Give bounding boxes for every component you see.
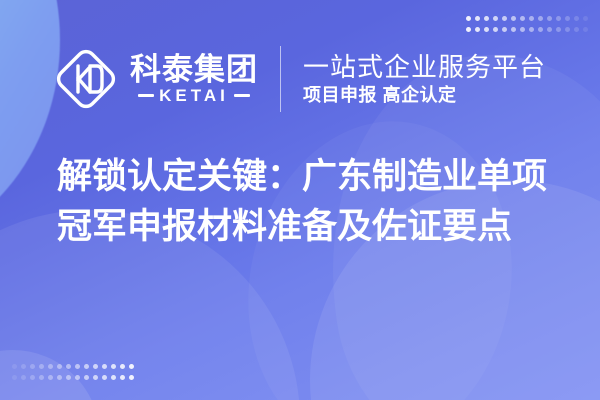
dot: [466, 27, 471, 32]
dot: [502, 16, 507, 21]
dot: [466, 16, 471, 21]
dot: [565, 16, 570, 21]
dot: [556, 27, 561, 32]
dot-grid-row: [12, 364, 134, 369]
dot-grid-row: [466, 27, 588, 32]
dot: [39, 375, 44, 380]
dot: [57, 375, 62, 380]
dot: [529, 27, 534, 32]
dot: [484, 16, 489, 21]
dot: [538, 27, 543, 32]
banner-headline: 解锁认定关键：广东制造业单项冠军申报材料准备及佐证要点: [57, 152, 560, 253]
dot: [520, 16, 525, 21]
dot: [556, 16, 561, 21]
vertical-divider: [280, 46, 281, 112]
dot: [475, 27, 480, 32]
dot: [120, 364, 125, 369]
dot: [111, 375, 116, 380]
ketai-diamond-monogram-icon: [54, 47, 118, 111]
brand-wordmark: 科泰集团 KETAI: [130, 54, 258, 105]
dot: [547, 16, 552, 21]
dot: [502, 27, 507, 32]
dot: [30, 375, 35, 380]
promo-banner: 科泰集团 KETAI 一站式企业服务平台 项目申报 高企认定 解锁认定关键：广东…: [0, 0, 600, 400]
dot: [12, 364, 17, 369]
dot: [129, 375, 134, 380]
brand-lockup: 科泰集团 KETAI: [54, 47, 258, 111]
dash-left-icon: [138, 94, 154, 97]
dot: [75, 375, 80, 380]
dot: [30, 364, 35, 369]
dot: [565, 27, 570, 32]
dot: [57, 364, 62, 369]
dot: [547, 27, 552, 32]
dot: [574, 16, 579, 21]
dot: [12, 375, 17, 380]
dot: [75, 364, 80, 369]
dot: [102, 375, 107, 380]
dot-grid-top-right: [466, 16, 588, 32]
dot: [21, 364, 26, 369]
dot: [493, 27, 498, 32]
dot-grid-row: [466, 16, 588, 21]
dot-grid-row: [12, 375, 134, 380]
dot: [84, 375, 89, 380]
dot: [583, 16, 588, 21]
dot: [120, 375, 125, 380]
dot: [574, 27, 579, 32]
dot: [93, 375, 98, 380]
dot: [102, 364, 107, 369]
dot: [493, 16, 498, 21]
slogan-block: 一站式企业服务平台 项目申报 高企认定: [303, 52, 546, 106]
dot: [484, 27, 489, 32]
dot: [111, 364, 116, 369]
dot: [66, 375, 71, 380]
dash-right-icon: [234, 94, 250, 97]
dot: [583, 27, 588, 32]
dot: [48, 375, 53, 380]
brand-name-en: KETAI: [159, 87, 229, 104]
slogan-main-text: 一站式企业服务平台: [303, 52, 546, 83]
dot: [48, 364, 53, 369]
dot: [511, 27, 516, 32]
dot-grid-bottom-left: [12, 364, 134, 380]
dot: [129, 364, 134, 369]
dot: [21, 375, 26, 380]
slogan-sub-text: 项目申报 高企认定: [303, 85, 546, 107]
dot: [39, 364, 44, 369]
banner-header: 科泰集团 KETAI 一站式企业服务平台 项目申报 高企认定: [0, 38, 600, 120]
dot: [475, 16, 480, 21]
dot: [84, 364, 89, 369]
dot: [529, 16, 534, 21]
dot: [538, 16, 543, 21]
brand-name-en-row: KETAI: [130, 87, 258, 104]
dot: [511, 16, 516, 21]
dot: [93, 364, 98, 369]
dot: [66, 364, 71, 369]
brand-name-cn: 科泰集团: [130, 54, 258, 87]
dot: [520, 27, 525, 32]
